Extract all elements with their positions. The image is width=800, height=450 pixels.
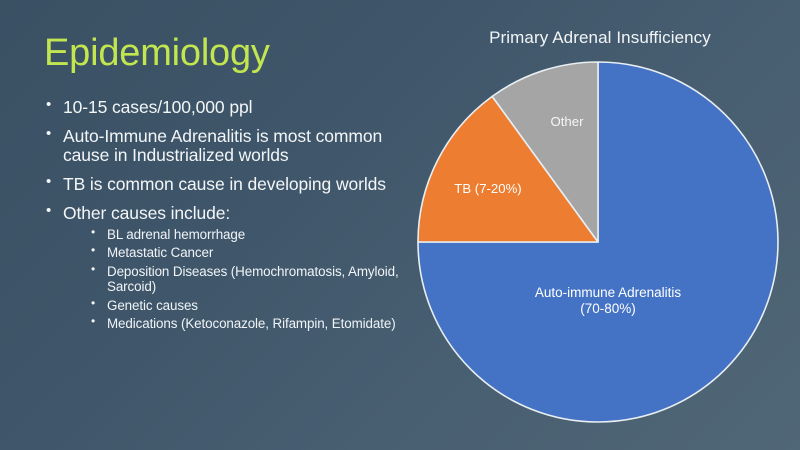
bullet-list: 10-15 cases/100,000 ppl Auto-Immune Adre…	[44, 98, 404, 332]
sub-list-item: Metastatic Cancer	[90, 245, 404, 261]
list-item: Other causes include: BL adrenal hemorrh…	[44, 204, 404, 332]
pie-chart-svg	[400, 0, 800, 450]
page-title: Epidemiology	[44, 34, 404, 74]
list-item: TB is common cause in developing worlds	[44, 175, 404, 195]
content-column: Epidemiology 10-15 cases/100,000 ppl Aut…	[44, 34, 404, 341]
pie-chart: Auto-immune Adrenalitis (70-80%) TB (7-2…	[400, 0, 800, 450]
sub-list-item: Medications (Ketoconazole, Rifampin, Eto…	[90, 316, 404, 332]
sub-bullet-list: BL adrenal hemorrhage Metastatic Cancer …	[63, 227, 404, 332]
chart-column: Primary Adrenal Insufficiency Auto-immun…	[400, 0, 800, 450]
list-item: 10-15 cases/100,000 ppl	[44, 98, 404, 118]
list-item-label: Other causes include:	[63, 203, 230, 223]
sub-list-item: Deposition Diseases (Hemochromatosis, Am…	[90, 264, 404, 295]
slide: Epidemiology 10-15 cases/100,000 ppl Aut…	[0, 0, 800, 450]
sub-list-item: Genetic causes	[90, 298, 404, 314]
list-item: Auto-Immune Adrenalitis is most common c…	[44, 127, 404, 167]
sub-list-item: BL adrenal hemorrhage	[90, 227, 404, 243]
